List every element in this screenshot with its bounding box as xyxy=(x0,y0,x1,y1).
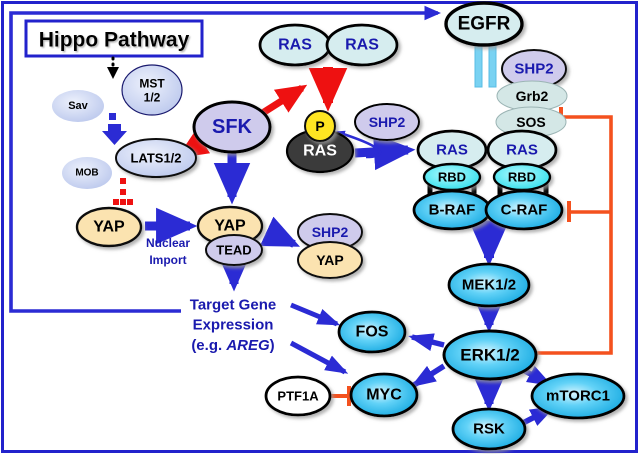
node-rbd_r: RBD xyxy=(494,164,550,190)
mst-label-line2: 1/2 xyxy=(144,90,161,104)
node-rbd_l: RBD xyxy=(424,164,480,190)
mst-to-lats-arrow xyxy=(102,124,127,145)
target-gene-to-fos-arrow xyxy=(291,305,337,324)
mst-label: MST xyxy=(139,76,165,90)
hippo-pathway-title: Hippo Pathway xyxy=(39,29,190,52)
mst-to-lats-dash-square xyxy=(109,113,116,120)
sav-label: Sav xyxy=(68,100,88,112)
node-braf: B-RAF xyxy=(414,191,490,229)
node-sav: Sav xyxy=(52,90,104,122)
rbd_l-label: RBD xyxy=(438,170,466,185)
yap_shp-label: YAP xyxy=(316,252,344,268)
node-ras_top1: RAS xyxy=(260,25,330,65)
mtorc1-label: mTORC1 xyxy=(546,388,610,405)
fos-label: FOS xyxy=(356,324,389,341)
shp2_yap-label: SHP2 xyxy=(312,224,349,240)
node-p_circle: P xyxy=(305,111,335,141)
ptf1a-label: PTF1A xyxy=(277,389,319,404)
craf-label: C-RAF xyxy=(501,202,548,219)
tead-label: TEAD xyxy=(216,243,251,258)
node-yap_shp: YAP xyxy=(298,242,362,278)
node-egfr: EGFR xyxy=(446,3,522,45)
erk-label: ERK1/2 xyxy=(460,346,520,365)
lats-label: LATS1/2 xyxy=(130,151,181,166)
ras_top1-label: RAS xyxy=(278,37,312,54)
node-craf: C-RAF xyxy=(486,191,562,229)
node-sfk: SFK xyxy=(194,102,270,152)
sfk-label: SFK xyxy=(212,116,253,138)
mek-label: MEK1/2 xyxy=(462,277,516,294)
ras_r-label: RAS xyxy=(506,142,538,159)
rsk-label: RSK xyxy=(473,421,505,438)
erk-to-myc-arrow xyxy=(414,366,444,385)
node-mob: MOB xyxy=(62,157,112,189)
egfr-label: EGFR xyxy=(458,14,511,35)
node-layer: SavMST1/2MOBLATS1/2YAPSFKRASRASRASPSHP2E… xyxy=(52,3,624,449)
nuclear-import-line1: Nuclear xyxy=(146,236,190,250)
node-shp2_mid: SHP2 xyxy=(355,104,419,140)
ras_dark-label: RAS xyxy=(303,143,337,160)
node-yap_cyto: YAP xyxy=(77,208,141,246)
braf-label: B-RAF xyxy=(429,202,476,219)
node-fos: FOS xyxy=(339,312,405,352)
shp2_mid-label: SHP2 xyxy=(369,114,406,130)
node-lats: LATS1/2 xyxy=(116,139,196,177)
shp2_top-label: SHP2 xyxy=(514,61,553,78)
nuclear-import-line2: Import xyxy=(149,253,186,267)
yap_cyto-label: YAP xyxy=(93,219,125,236)
egfr-transmembrane-bar-left xyxy=(475,40,482,87)
lats-to-yap-dotted-inhibit xyxy=(113,178,133,205)
hippo-to-mst-arrowhead xyxy=(107,67,119,79)
myc-label: MYC xyxy=(366,387,402,404)
erk-to-fos-arrow xyxy=(412,337,444,345)
target-gene-line2: Expression xyxy=(193,317,274,334)
node-myc: MYC xyxy=(351,374,417,416)
node-rsk: RSK xyxy=(453,409,525,449)
ras_top2-label: RAS xyxy=(345,37,379,54)
sfk-to-ras-red-arrow xyxy=(261,88,302,114)
ras_l-label: RAS xyxy=(436,142,468,159)
pras-to-raf-complex-arrow xyxy=(355,150,408,153)
node-ras_top2: RAS xyxy=(327,25,397,65)
node-mek: MEK1/2 xyxy=(449,264,529,306)
node-tead: TEAD xyxy=(206,235,262,265)
target-gene-line1: Target Gene xyxy=(190,297,276,314)
node-mtorc1: mTORC1 xyxy=(532,374,624,418)
pathway-diagram: SavMST1/2MOBLATS1/2YAPSFKRASRASRASPSHP2E… xyxy=(0,0,639,454)
grb2-label: Grb2 xyxy=(516,88,549,104)
p_circle-label: P xyxy=(315,118,324,134)
yap-to-shp2yap-arrow xyxy=(268,232,294,244)
node-ptf1a: PTF1A xyxy=(266,377,330,415)
mob-label: MOB xyxy=(75,168,98,179)
yap_nuc-label: YAP xyxy=(214,218,246,235)
node-grb2: Grb2 xyxy=(497,81,567,111)
rbd_r-label: RBD xyxy=(508,170,536,185)
sos-label: SOS xyxy=(516,114,546,130)
areg-line-line1: (e.g. AREG) xyxy=(191,337,274,354)
node-mst: MST1/2 xyxy=(122,65,182,115)
node-erk: ERK1/2 xyxy=(444,331,536,379)
target-gene-to-myc-arrow xyxy=(291,343,345,372)
egfr-transmembrane-bar-right xyxy=(489,40,496,87)
